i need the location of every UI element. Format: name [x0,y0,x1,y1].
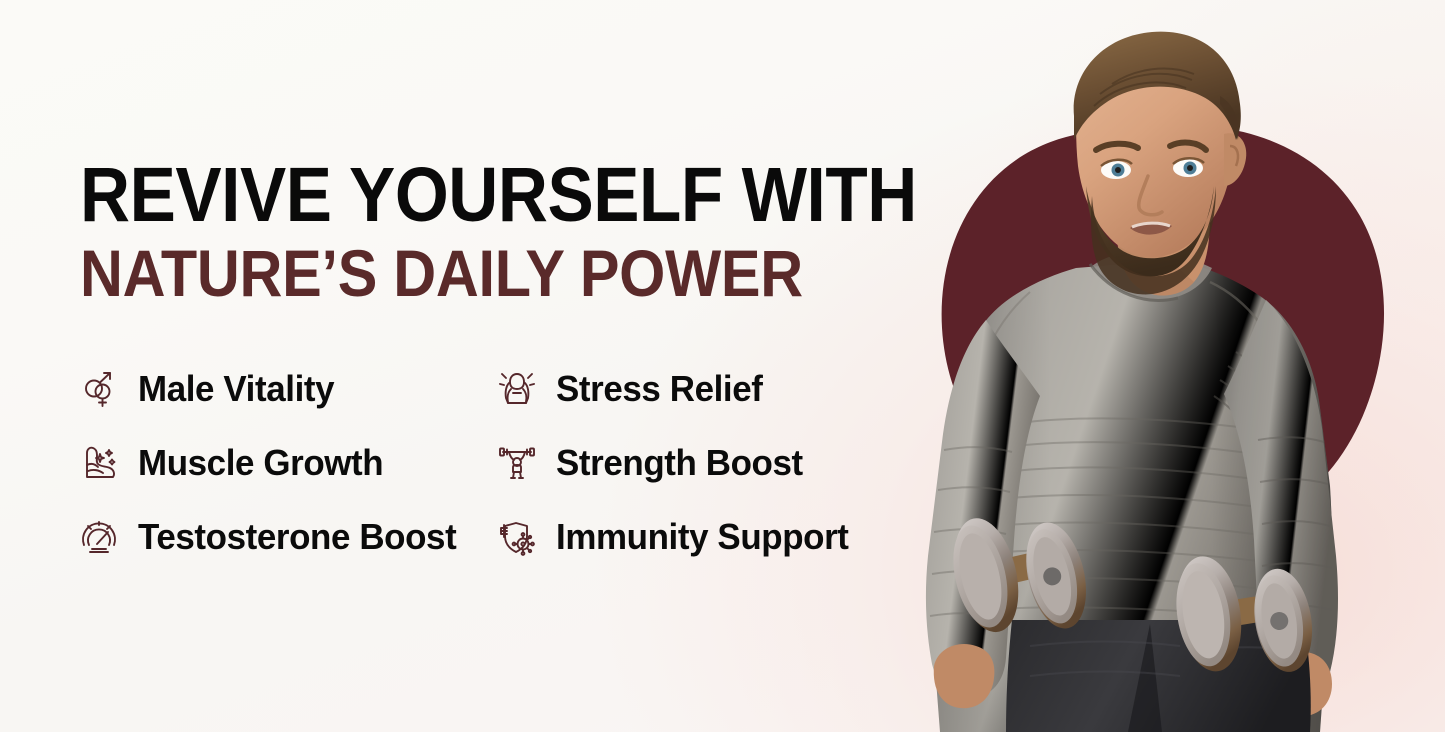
feature-item-stress-relief: Stress Relief [496,352,914,426]
speedometer-gauge-icon [78,516,120,558]
feature-label: Stress Relief [556,368,763,410]
shield-cross-virus-icon [496,516,538,558]
page-title: REVIVE YOURSELF WITH [80,158,917,233]
gender-symbols-icon [78,368,120,410]
feature-list: Male Vitality [78,352,908,574]
promo-banner: REVIVE YOURSELF WITH NATURE’S DAILY POWE… [0,0,1445,732]
banner-content: REVIVE YOURSELF WITH NATURE’S DAILY POWE… [0,0,920,732]
feature-item-male-vitality: Male Vitality [78,352,496,426]
feature-label: Strength Boost [556,442,803,484]
flexed-bicep-sparkle-icon [78,442,120,484]
maroon-blob-shape [940,120,1400,540]
feature-item-testosterone-boost: Testosterone Boost [78,500,496,574]
feature-item-immunity-support: Immunity Support [496,500,914,574]
feature-label: Muscle Growth [138,442,383,484]
feature-item-muscle-growth: Muscle Growth [78,426,496,500]
stressed-person-icon [496,368,538,410]
model-photo [880,0,1445,732]
feature-label: Immunity Support [556,516,849,558]
feature-label: Male Vitality [138,368,334,410]
feature-label: Testosterone Boost [138,516,456,558]
page-subtitle: NATURE’S DAILY POWER [80,240,803,306]
feature-item-strength-boost: Strength Boost [496,426,914,500]
weightlifter-barbell-icon [496,442,538,484]
